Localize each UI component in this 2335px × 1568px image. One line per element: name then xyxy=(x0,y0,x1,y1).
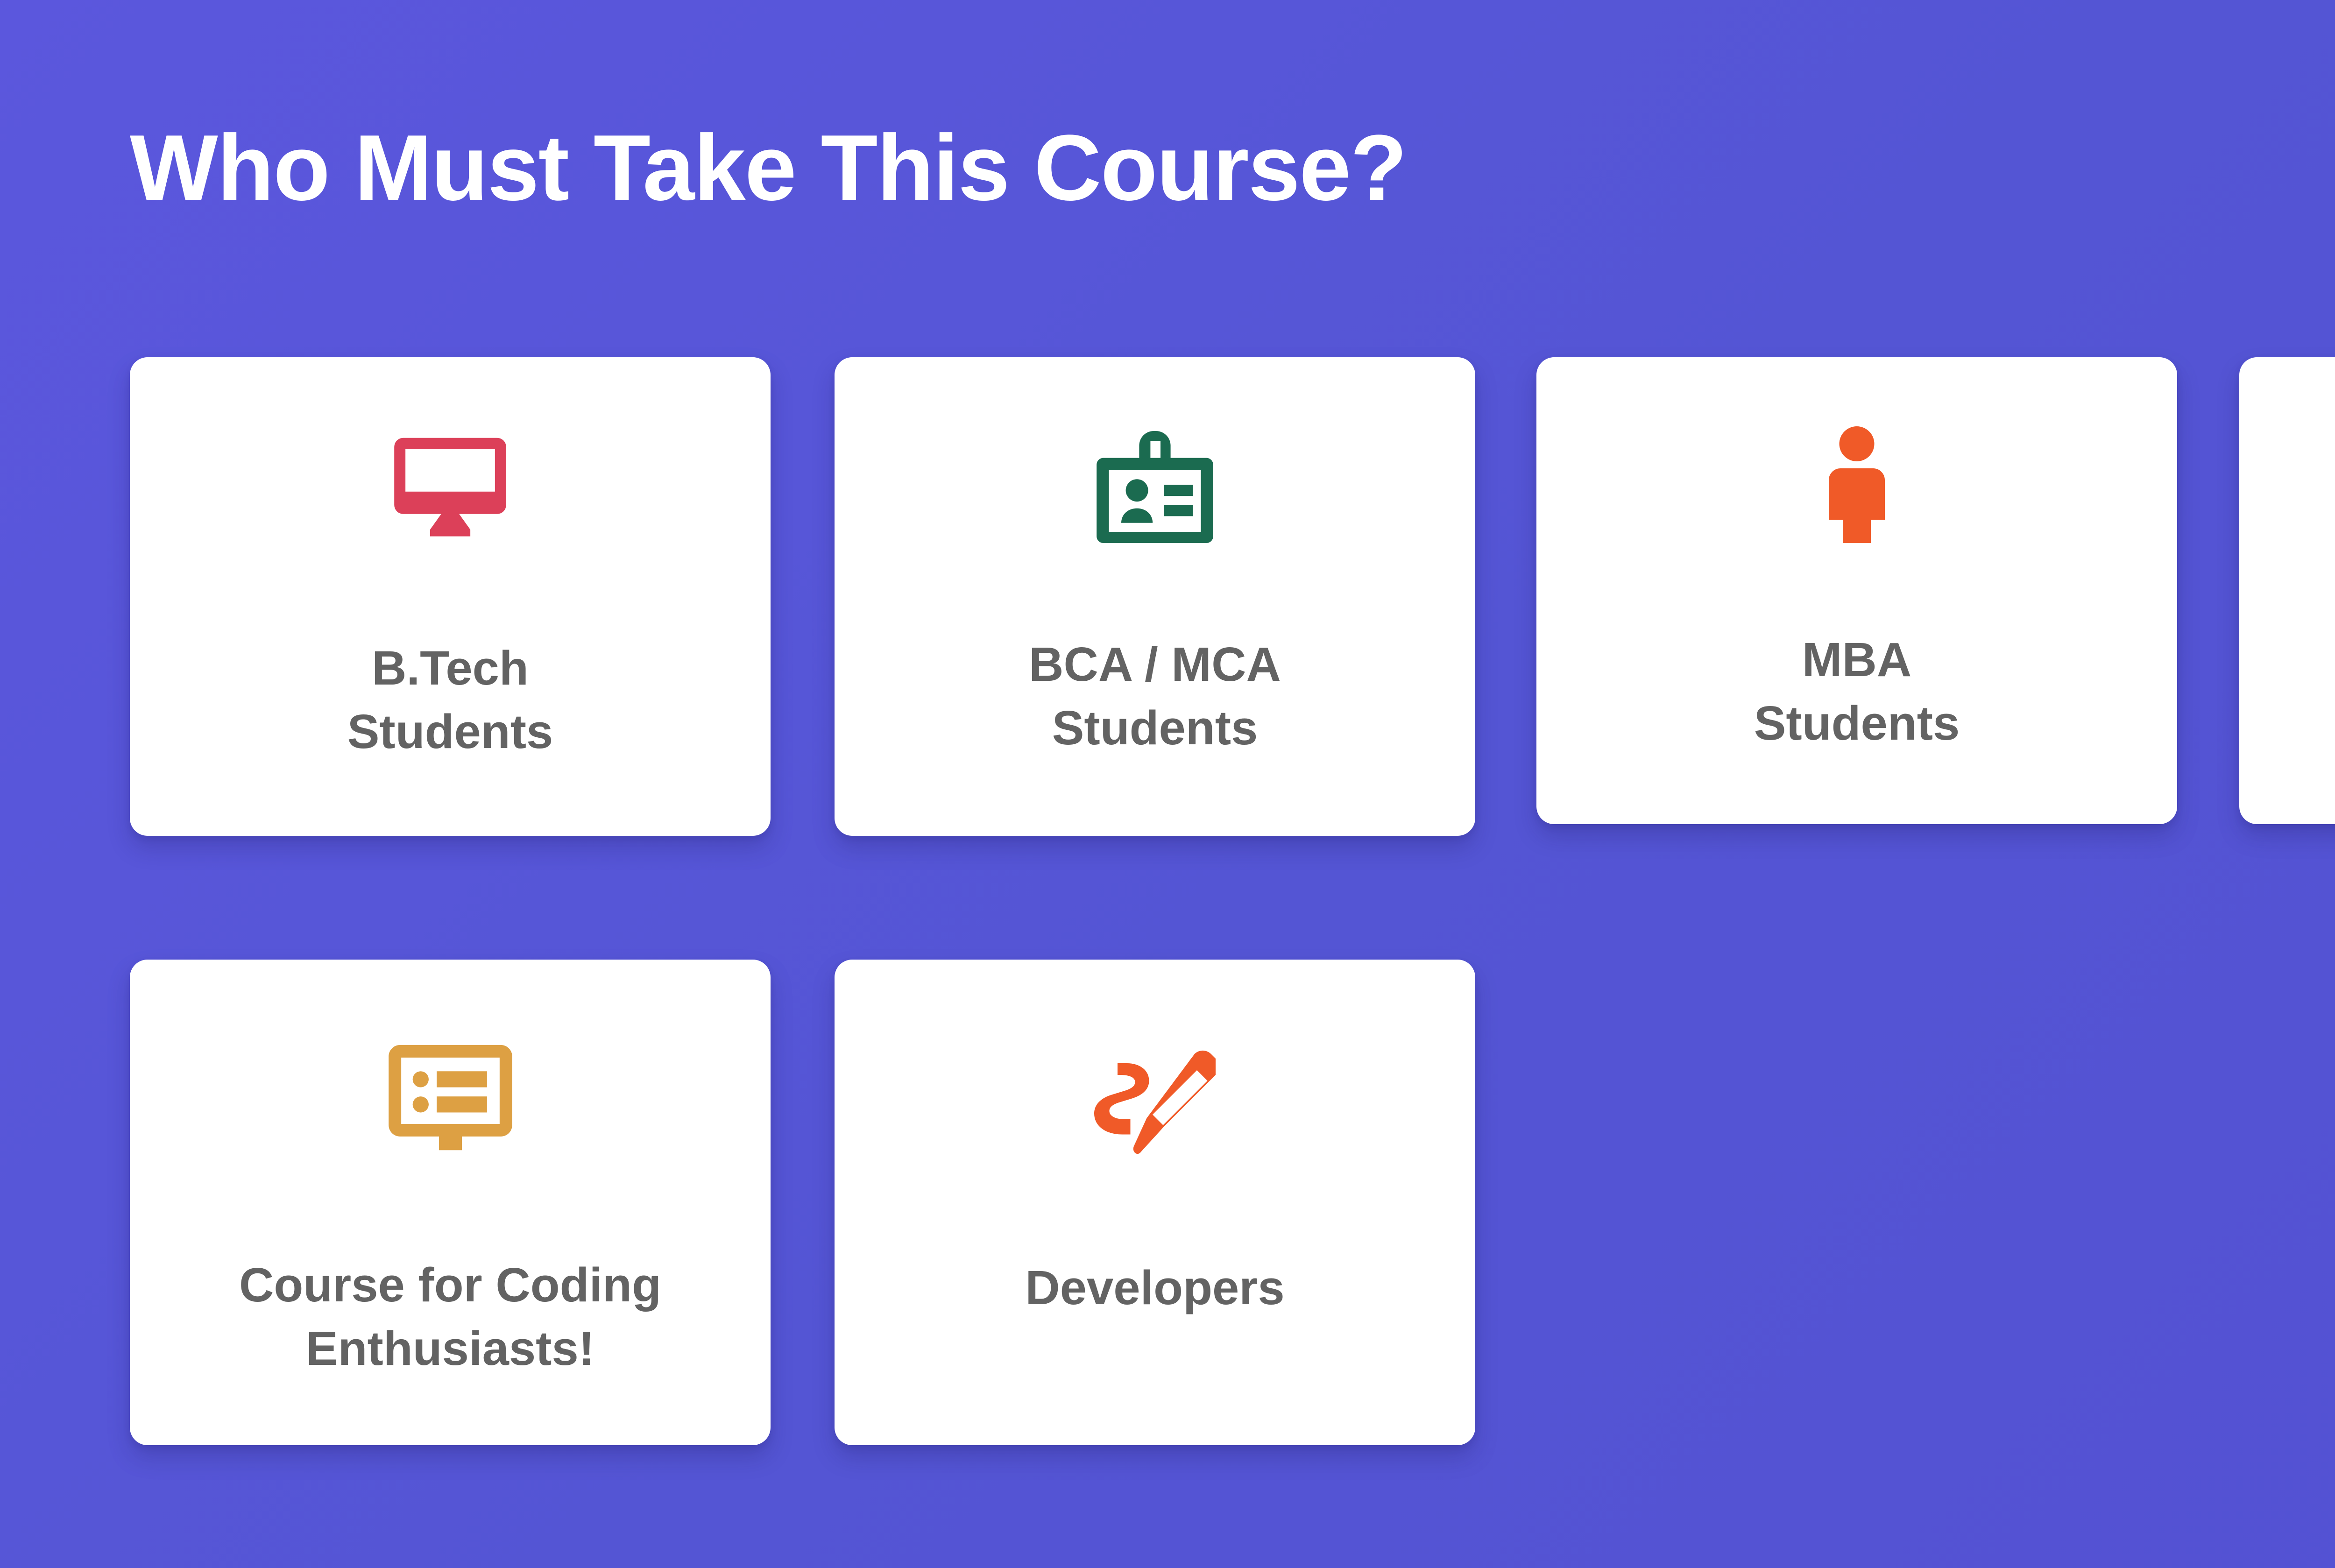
audience-card-bca-mca[interactable]: BCA / MCA Students xyxy=(835,357,1475,836)
audience-card-label: MBA Students xyxy=(1536,628,2177,755)
audience-card-label: B.Tech Students xyxy=(130,636,771,763)
audience-card-coding-enthusiasts[interactable]: Course for Coding Enthusiasts! xyxy=(130,960,771,1445)
audience-card-grid: B.Tech Students BCA xyxy=(0,0,2335,1568)
audience-card-developers[interactable]: Developers xyxy=(835,960,1475,1445)
audience-card-freelancers[interactable]: Freelancers xyxy=(2239,357,2335,824)
audience-card-label: Course for Coding Enthusiasts! xyxy=(130,1253,771,1380)
slide-canvas: Who Must Take This Course? B.Tech Studen… xyxy=(0,0,2335,1568)
audience-card-mba[interactable]: MBA Students xyxy=(1536,357,2177,824)
id-badge-icon xyxy=(835,431,1475,543)
people-group-icon xyxy=(2239,438,2335,541)
person-standing-icon xyxy=(1536,426,2177,543)
audience-card-label: BCA / MCA Students xyxy=(835,633,1475,760)
audience-card-label: Freelancers xyxy=(2239,634,2335,697)
pencil-edit-icon xyxy=(835,1045,1475,1159)
audience-card-btech[interactable]: B.Tech Students xyxy=(130,357,771,836)
desktop-monitor-icon xyxy=(130,436,771,543)
list-screen-icon xyxy=(130,1043,771,1157)
audience-card-label: Developers xyxy=(835,1256,1475,1320)
